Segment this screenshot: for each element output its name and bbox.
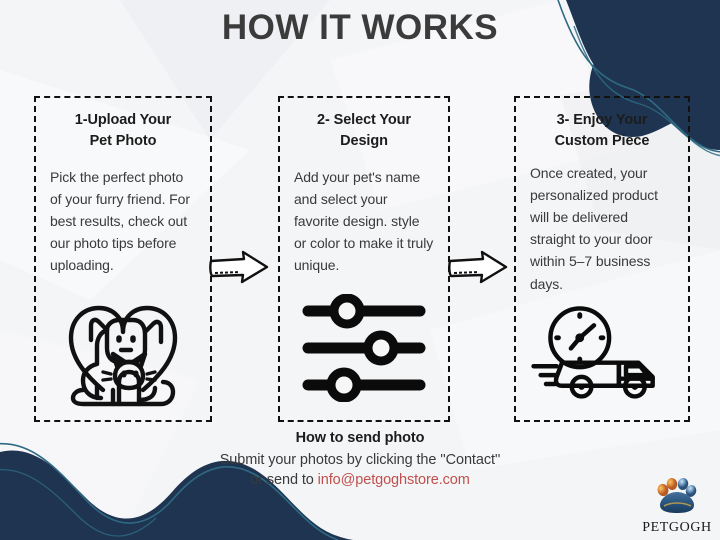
footer-email-line: or send to info@petgoghstore.com	[0, 472, 720, 488]
footer-instruction-line: Submit your photos by clicking the ''Con…	[0, 452, 720, 468]
contact-email-link[interactable]: info@petgoghstore.com	[318, 472, 470, 488]
page-title: HOW IT WORKS	[0, 8, 720, 48]
connector-arrow-2	[447, 249, 509, 292]
paw-print-logo-icon	[655, 478, 699, 514]
steps-container: 1-Upload Your Pet Photo Pick the perfect…	[0, 96, 720, 422]
step-card-1-icon-wrap	[50, 302, 196, 414]
brand-logo[interactable]: PETGOGH	[640, 478, 714, 536]
step-card-2-title-line-1: 2- Select Your	[317, 112, 411, 128]
connector-arrow-1	[208, 249, 270, 292]
step-card-1-title-line-2: Pet Photo	[90, 133, 157, 149]
step-card-2-title: 2- Select Your Design	[317, 110, 411, 152]
step-card-2-icon-wrap	[294, 294, 434, 402]
footer-email-prefix: or send to	[250, 472, 317, 488]
step-card-2[interactable]: 2- Select Your Design Add your pet's nam…	[278, 96, 450, 422]
step-card-1-title-line-1: 1-Upload Your	[75, 112, 171, 128]
step-card-3-title: 3- Enjoy Your Custom Piece	[555, 110, 650, 152]
step-card-1-title: 1-Upload Your Pet Photo	[75, 110, 171, 152]
arrow-right-sketch-icon	[208, 249, 270, 287]
delivery-truck-clock-icon	[530, 298, 674, 406]
step-card-3-title-line-1: 3- Enjoy Your	[557, 112, 648, 128]
step-card-3-title-line-2: Custom Piece	[555, 133, 650, 149]
footer-heading: How to send photo	[0, 430, 720, 446]
step-card-3-body: Once created, your personalized product …	[530, 162, 674, 295]
step-card-2-title-line-2: Design	[340, 133, 388, 149]
sliders-settings-icon	[302, 294, 426, 402]
step-card-2-body: Add your pet's name and select your favo…	[294, 166, 434, 277]
arrow-right-sketch-icon	[447, 249, 509, 287]
step-card-3[interactable]: 3- Enjoy Your Custom Piece Once created,…	[514, 96, 690, 422]
footer: How to send photo Submit your photos by …	[0, 430, 720, 488]
step-card-1[interactable]: 1-Upload Your Pet Photo Pick the perfect…	[34, 96, 212, 422]
page-header: HOW IT WORKS	[0, 8, 720, 48]
step-card-1-body: Pick the perfect photo of your furry fri…	[50, 166, 196, 277]
dog-cat-heart-icon	[57, 302, 189, 414]
brand-wordmark: PETGOGH	[640, 520, 714, 536]
step-card-3-icon-wrap	[530, 298, 674, 406]
